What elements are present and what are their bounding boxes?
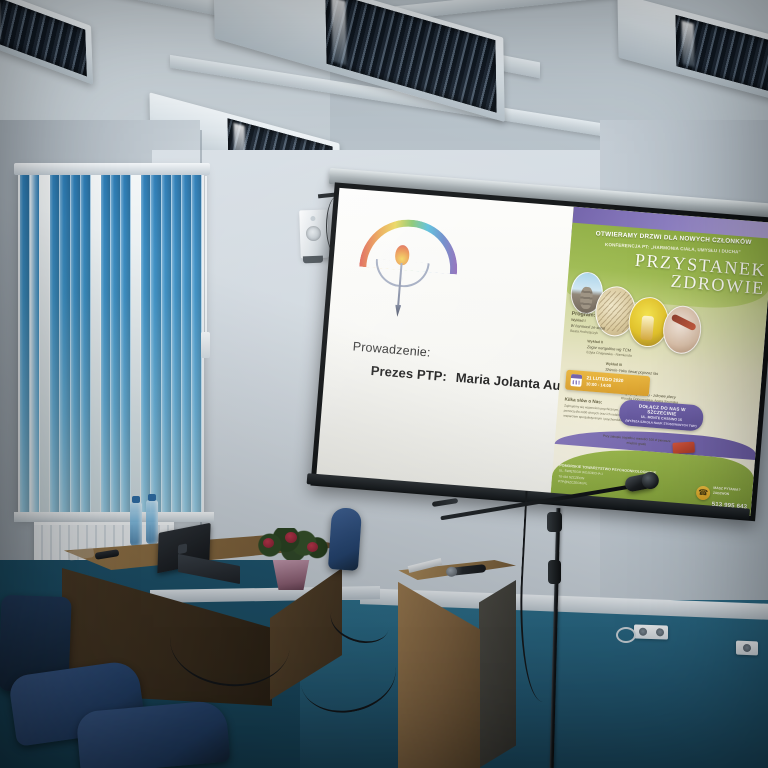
blind-chain-weight[interactable] — [201, 332, 210, 358]
wall-socket-1[interactable] — [634, 624, 668, 639]
blind-chain[interactable] — [205, 176, 207, 336]
photo-oval-massage — [662, 304, 704, 355]
flower-bloom-1 — [263, 538, 274, 548]
flower-bloom-2 — [285, 532, 297, 543]
brick-icon — [673, 442, 696, 454]
logo-stem-tip — [394, 305, 401, 317]
slide-left-panel: Prowadzenie: Prezes PTP:Maria Jolanta Au… — [316, 188, 574, 500]
window-sill — [14, 512, 214, 522]
calendar-icon — [571, 374, 583, 387]
mic-stand-clutch-lower[interactable] — [548, 560, 561, 584]
ptp-rainbow-logo-icon — [356, 216, 447, 314]
lectern — [396, 560, 516, 768]
flower-arrangement — [255, 528, 329, 590]
socket-cable-loop — [616, 627, 636, 643]
projected-slide: Prowadzenie: Prezes PTP:Maria Jolanta Au… — [316, 188, 768, 516]
lead-role: Prezes PTP: — [370, 363, 447, 384]
logo-leaf-right — [400, 261, 430, 289]
program-item-1: Wykład I W harmonii ze sobą Beata Andrze… — [570, 318, 627, 338]
conference-room-photo: Prowadzenie: Prezes PTP:Maria Jolanta Au… — [0, 0, 768, 768]
vertical-blinds[interactable] — [20, 175, 202, 513]
conference-poster: OTWIERAMY DRZWI DLA NOWYCH CZŁONKÓW KONF… — [551, 207, 768, 516]
blind-headrail — [14, 163, 210, 175]
lectern-side — [479, 580, 516, 768]
lead-label: Prowadzenie: — [352, 339, 431, 359]
speaker-bracket — [303, 256, 323, 264]
lectern-front — [398, 570, 480, 768]
date-text: 21 LUTEGO 2020 10:00 - 14:00 — [586, 376, 624, 390]
screen-frame: Prowadzenie: Prezes PTP:Maria Jolanta Au… — [310, 182, 768, 521]
projection-screen-assembly: Prowadzenie: Prezes PTP:Maria Jolanta Au… — [304, 168, 768, 533]
cta-box: DOŁĄCZ DO NAS W SZCZECINIE UL. MONTE CAS… — [619, 399, 705, 432]
mic-stand-clutch-upper[interactable] — [547, 512, 562, 532]
stacked-chair-2 — [76, 700, 231, 768]
wall-socket-2[interactable] — [736, 641, 758, 656]
office-chair-desk — [328, 507, 362, 571]
flower-bloom-3 — [307, 542, 318, 552]
flower-wrap — [267, 560, 315, 590]
